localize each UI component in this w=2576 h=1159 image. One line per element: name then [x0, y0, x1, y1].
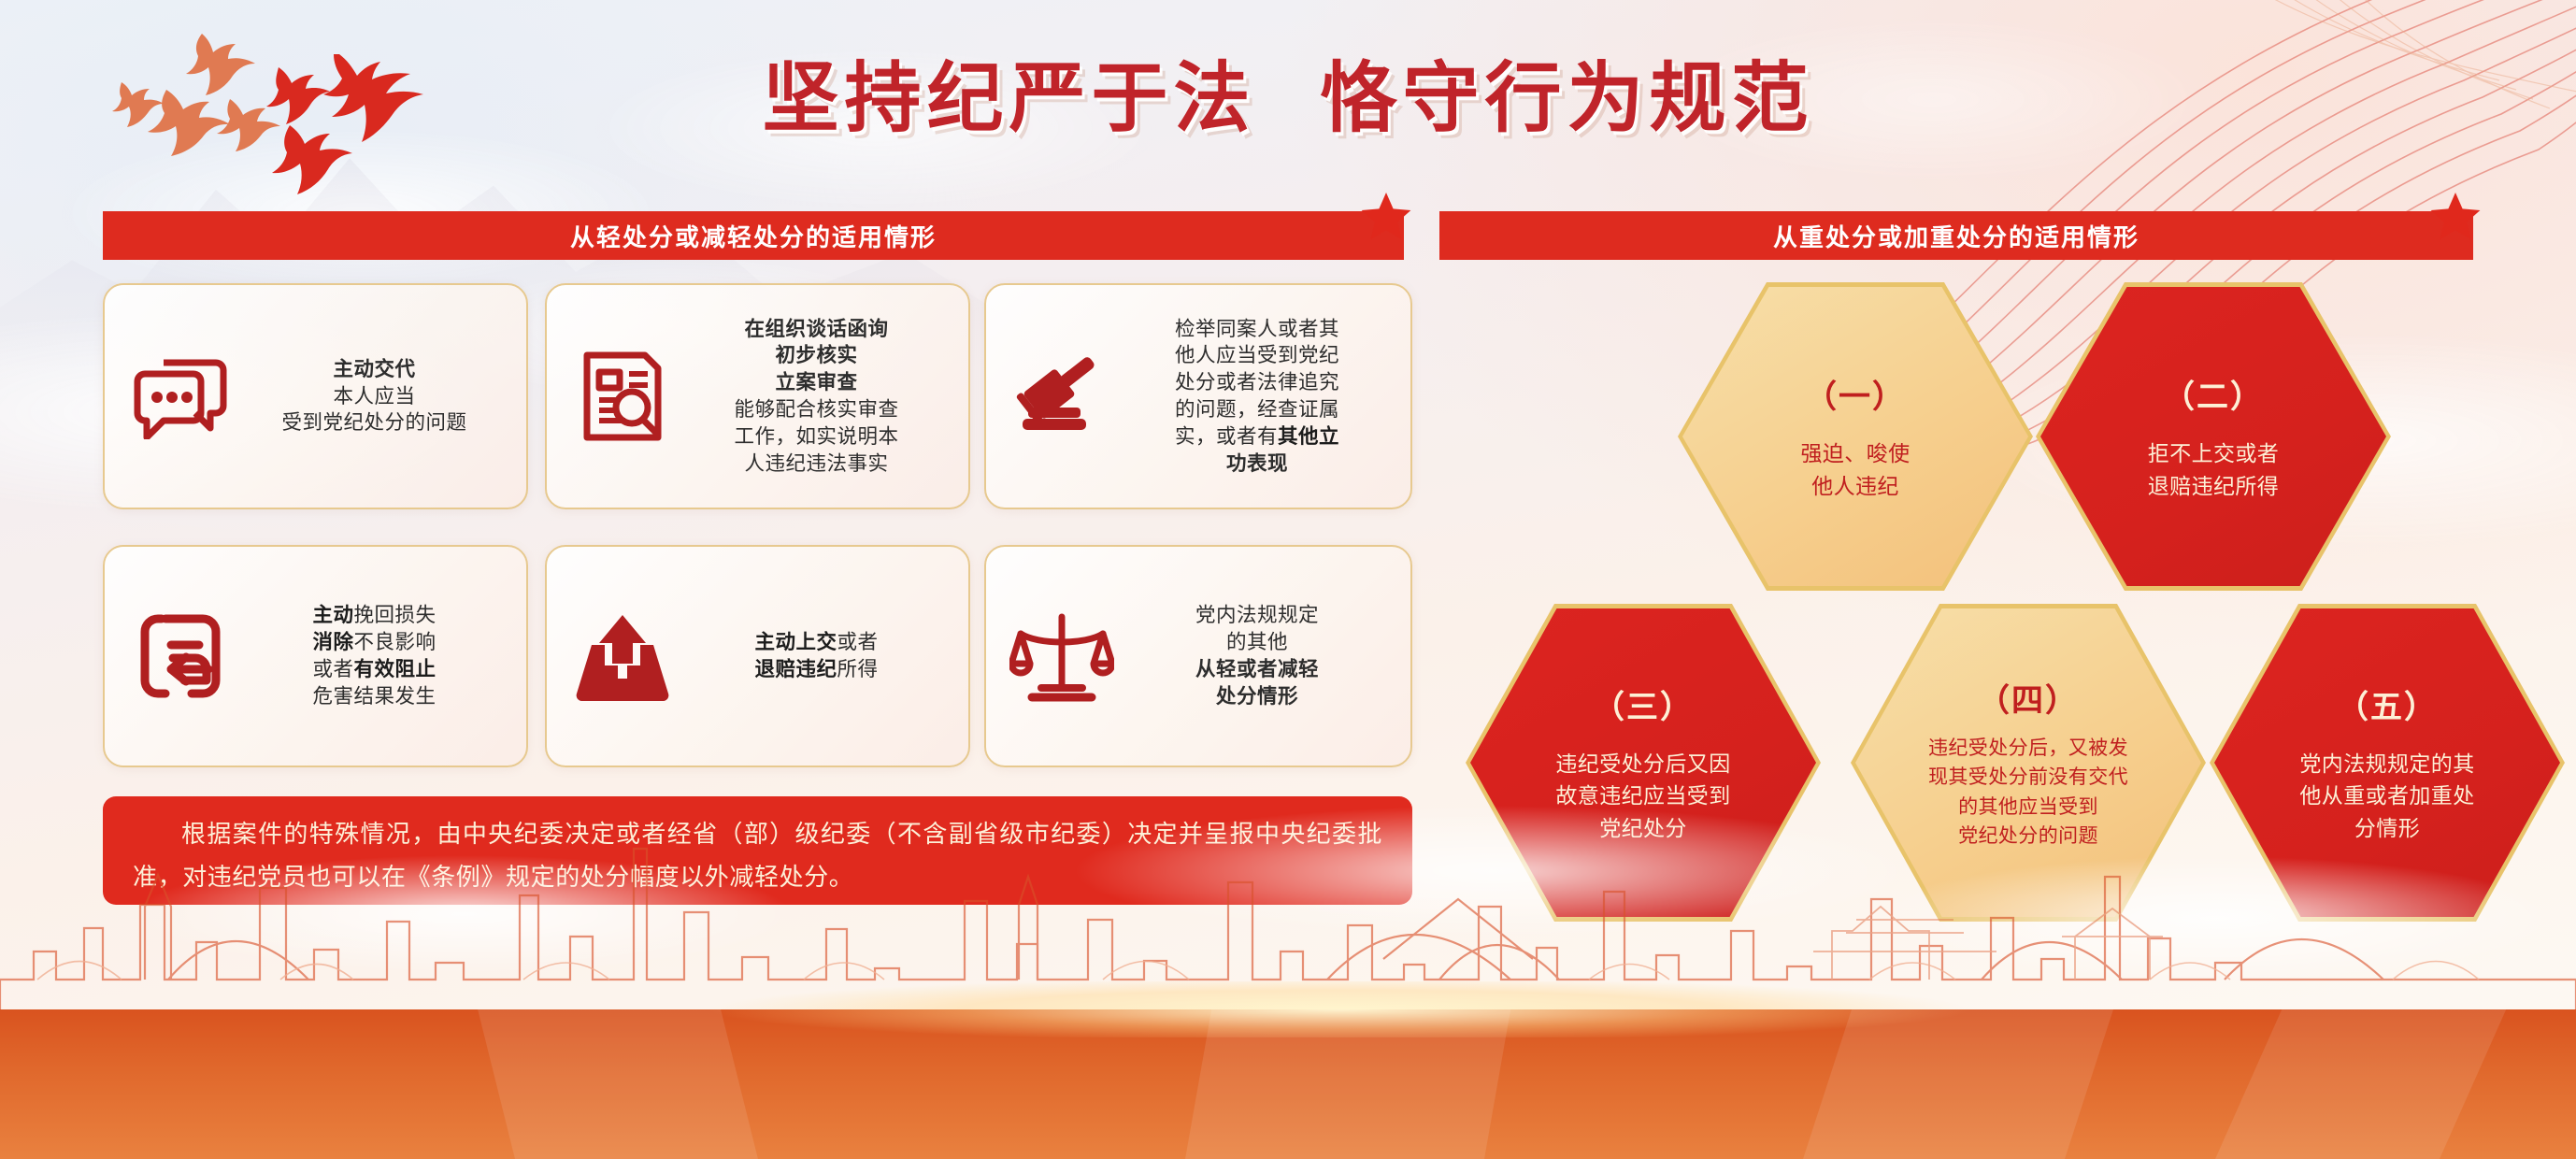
- hexagon-5-number: （五）: [2240, 681, 2535, 727]
- hexagon-1-line-1: 强迫、唆使: [1708, 437, 2003, 470]
- ground-ray: [1185, 1009, 1510, 1159]
- card-6-line-3: 从轻或者减轻: [1121, 656, 1394, 683]
- card-voluntary-confession: 主动交代 本人应当 受到党纪处分的问题: [103, 283, 528, 509]
- right-banner-label: 从重处分或加重处分的适用情形: [1773, 219, 2140, 253]
- hexagon-5-line-1: 党内法规规定的其: [2240, 748, 2535, 780]
- hexagon-1-number: （一）: [1708, 371, 2003, 417]
- scales-of-justice-icon: [1003, 609, 1121, 703]
- page-title: 坚持纪严于法 恪守行为规范: [0, 36, 2576, 147]
- card-organization-inquiry: 在组织谈话函询 初步核实 立案审查 能够配合核实审查 工作，如实说明本 人违纪违…: [545, 283, 970, 509]
- card-6-line-2: 的其他: [1121, 629, 1394, 656]
- card-6-line-1: 党内法规规定: [1121, 602, 1394, 629]
- card-1-line-2: 本人应当: [239, 383, 509, 410]
- card-6-line-4: 处分情形: [1121, 683, 1394, 710]
- hexagon-4-number: （四）: [1881, 675, 2176, 721]
- card-report-accomplice: 检举同案人或者其 他人应当受到党纪 处分或者法律追究 的问题，经查证属 实，或者…: [984, 283, 1412, 509]
- hexagon-2-body: 拒不上交或者 退赔违纪所得: [2066, 437, 2361, 502]
- card-4-text: 主动挽回损失 消除不良影响 或者有效阻止 危害结果发生: [239, 602, 509, 709]
- card-1-line-1: 主动交代: [239, 356, 509, 383]
- ground-ray: [2215, 1009, 2506, 1159]
- card-4-line-1: 主动挽回损失: [239, 602, 509, 629]
- right-section-banner: 从重处分或加重处分的适用情形: [1439, 211, 2473, 260]
- card-1-text: 主动交代 本人应当 受到党纪处分的问题: [239, 356, 509, 436]
- card-2-text: 在组织谈话函询 初步核实 立案审查 能够配合核实审查 工作，如实说明本 人违纪违…: [681, 316, 952, 478]
- card-2-line-3: 立案审查: [681, 369, 952, 396]
- hexagon-2-line-1: 拒不上交或者: [2066, 437, 2361, 470]
- card-3-line-3: 处分或者法律追究: [1121, 369, 1394, 396]
- card-2-line-6: 人违纪违法事实: [681, 451, 952, 478]
- hexagon-2-line-2: 退赔违纪所得: [2066, 470, 2361, 503]
- card-other-regulations: 党内法规规定 的其他 从轻或者减轻 处分情形: [984, 545, 1412, 767]
- hexagon-3-number: （三）: [1496, 681, 1791, 727]
- left-section-banner: 从轻处分或减轻处分的适用情形: [103, 211, 1404, 260]
- card-2-line-4: 能够配合核实审查: [681, 396, 952, 423]
- card-5-line-1: 主动上交或者: [681, 629, 952, 656]
- card-3-line-2: 他人应当受到党纪: [1121, 342, 1394, 369]
- card-4-line-3: 或者有效阻止: [239, 656, 509, 683]
- ground-band: [0, 1009, 2576, 1159]
- card-5-line-2: 退赔违纪所得: [681, 656, 952, 683]
- card-2-line-5: 工作，如实说明本: [681, 423, 952, 451]
- hexagon-1-content: （一） 强迫、唆使 他人违纪: [1708, 371, 2003, 502]
- card-2-line-2: 初步核实: [681, 342, 952, 369]
- card-surrender-gains: 主动上交或者 退赔违纪所得: [545, 545, 970, 767]
- hexagon-1-line-2: 他人违纪: [1708, 470, 2003, 503]
- hexagon-2-number: （二）: [2066, 371, 2361, 417]
- left-banner-label: 从轻处分或减轻处分的适用情形: [570, 219, 937, 253]
- card-3-line-4: 的问题，经查证属: [1121, 396, 1394, 423]
- five-point-star-icon: [1359, 191, 1413, 243]
- ground-ray: [478, 1009, 758, 1159]
- hexagon-1-body: 强迫、唆使 他人违纪: [1708, 437, 2003, 502]
- card-3-line-6: 功表现: [1121, 451, 1394, 478]
- card-5-text: 主动上交或者 退赔违纪所得: [681, 629, 952, 683]
- card-4-line-2: 消除不良影响: [239, 629, 509, 656]
- hexagon-4-line-1: 违纪受处分后，又被发: [1881, 734, 2176, 764]
- card-1-line-3: 受到党纪处分的问题: [239, 409, 509, 436]
- document-search-icon: [564, 348, 681, 445]
- return-arrow-icon: [122, 608, 239, 705]
- ground-ray: [1803, 1009, 2113, 1159]
- upload-tray-icon: [564, 611, 681, 701]
- card-recover-losses: 主动挽回损失 消除不良影响 或者有效阻止 危害结果发生: [103, 545, 528, 767]
- five-point-star-icon: [2428, 191, 2483, 243]
- card-2-line-1: 在组织谈话函询: [681, 316, 952, 343]
- hexagon-2-content: （二） 拒不上交或者 退赔违纪所得: [2066, 371, 2361, 502]
- hexagon-3-line-1: 违纪受处分后又因: [1496, 748, 1791, 780]
- card-3-text: 检举同案人或者其 他人应当受到党纪 处分或者法律追究 的问题，经查证属 实，或者…: [1121, 316, 1394, 478]
- card-4-line-4: 危害结果发生: [239, 683, 509, 710]
- poster-canvas: 坚持纪严于法 恪守行为规范 从轻处分或减轻处分的适用情形 从重处分或加重处分的适…: [0, 0, 2576, 1159]
- gavel-icon: [1003, 350, 1121, 443]
- card-6-text: 党内法规规定 的其他 从轻或者减轻 处分情形: [1121, 602, 1394, 709]
- speech-bubbles-icon: [122, 353, 239, 439]
- card-3-line-5: 实，或者有其他立: [1121, 423, 1394, 451]
- card-3-line-1: 检举同案人或者其: [1121, 316, 1394, 343]
